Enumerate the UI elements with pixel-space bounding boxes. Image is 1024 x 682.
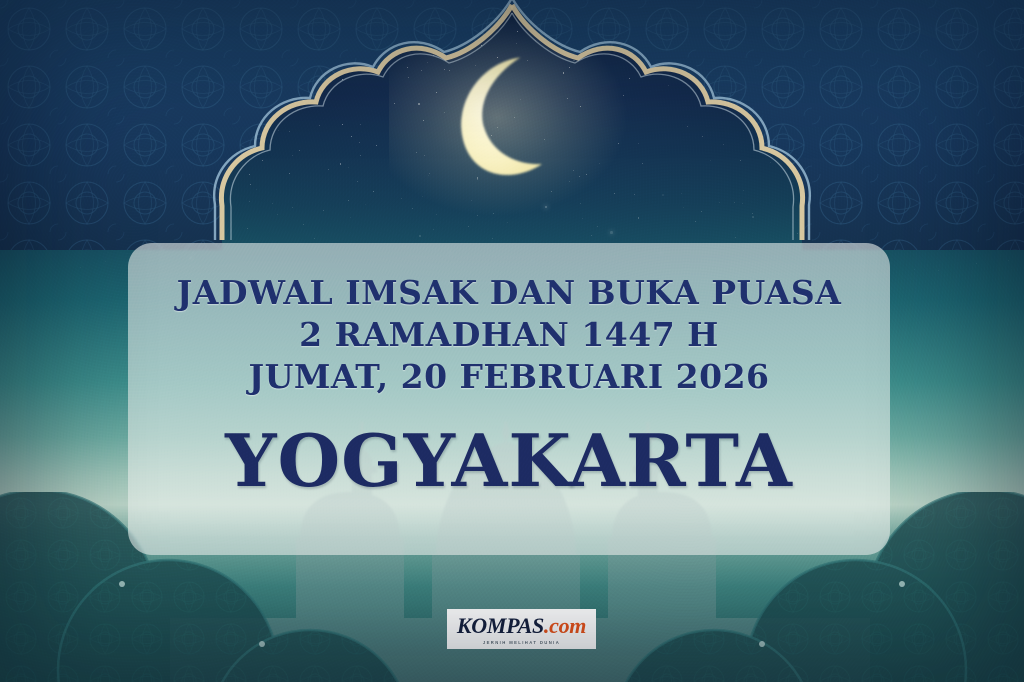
schedule-text-panel: JADWAL IMSAK DAN BUKA PUASA 2 RAMADHAN 1…	[128, 243, 890, 555]
logo-tagline: JERNIH MELIHAT DUNIA	[483, 640, 560, 645]
headline-line-2: 2 RAMADHAN 1447 H	[299, 317, 719, 354]
kompas-logo[interactable]: KOMPAS.com JERNIH MELIHAT DUNIA	[447, 609, 596, 649]
logo-brand-text: KOMPAS	[457, 613, 544, 638]
headline-line-3: JUMAT, 20 FEBRUARI 2026	[248, 359, 769, 396]
ramadan-schedule-poster: JADWAL IMSAK DAN BUKA PUASA 2 RAMADHAN 1…	[0, 0, 1024, 682]
city-name: YOGYAKARTA	[225, 418, 793, 503]
logo-wordmark: KOMPAS.com	[457, 615, 586, 637]
logo-suffix-text: .com	[544, 613, 586, 638]
headline-line-1: JADWAL IMSAK DAN BUKA PUASA	[177, 275, 842, 312]
